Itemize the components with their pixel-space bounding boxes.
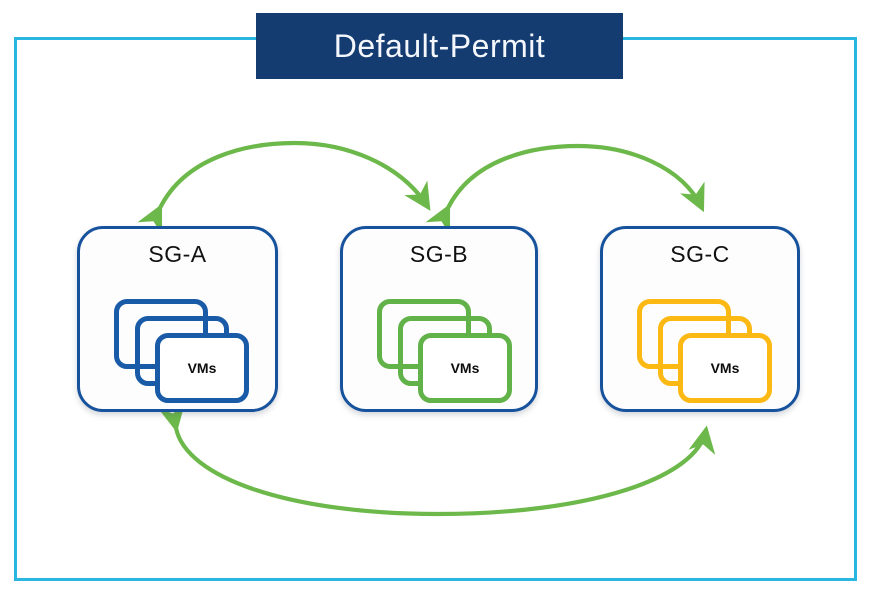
sg-c-label: SG-C [603,241,797,268]
diagram-canvas: Default-Permit SG-A VMs SG-B VMs SG-C [0,0,871,595]
vm-stack-sg-a: VMs [114,299,249,404]
page-title: Default-Permit [334,28,546,65]
security-group-box-sg-c[interactable]: SG-C VMs [600,226,800,412]
sg-b-label: SG-B [343,241,535,268]
vm-stack-sg-b: VMs [377,299,512,404]
vm-label-sg-c: VMs [711,360,740,376]
vm-label-sg-a: VMs [188,360,217,376]
security-group-box-sg-b[interactable]: SG-B VMs [340,226,538,412]
security-group-box-sg-a[interactable]: SG-A VMs [77,226,278,412]
title-banner: Default-Permit [256,13,623,79]
vm-card-front-sg-c[interactable]: VMs [678,333,772,403]
vm-card-front-sg-a[interactable]: VMs [155,333,249,403]
vm-card-front-sg-b[interactable]: VMs [418,333,512,403]
vm-label-sg-b: VMs [451,360,480,376]
vm-stack-sg-c: VMs [637,299,772,404]
sg-a-label: SG-A [80,241,275,268]
